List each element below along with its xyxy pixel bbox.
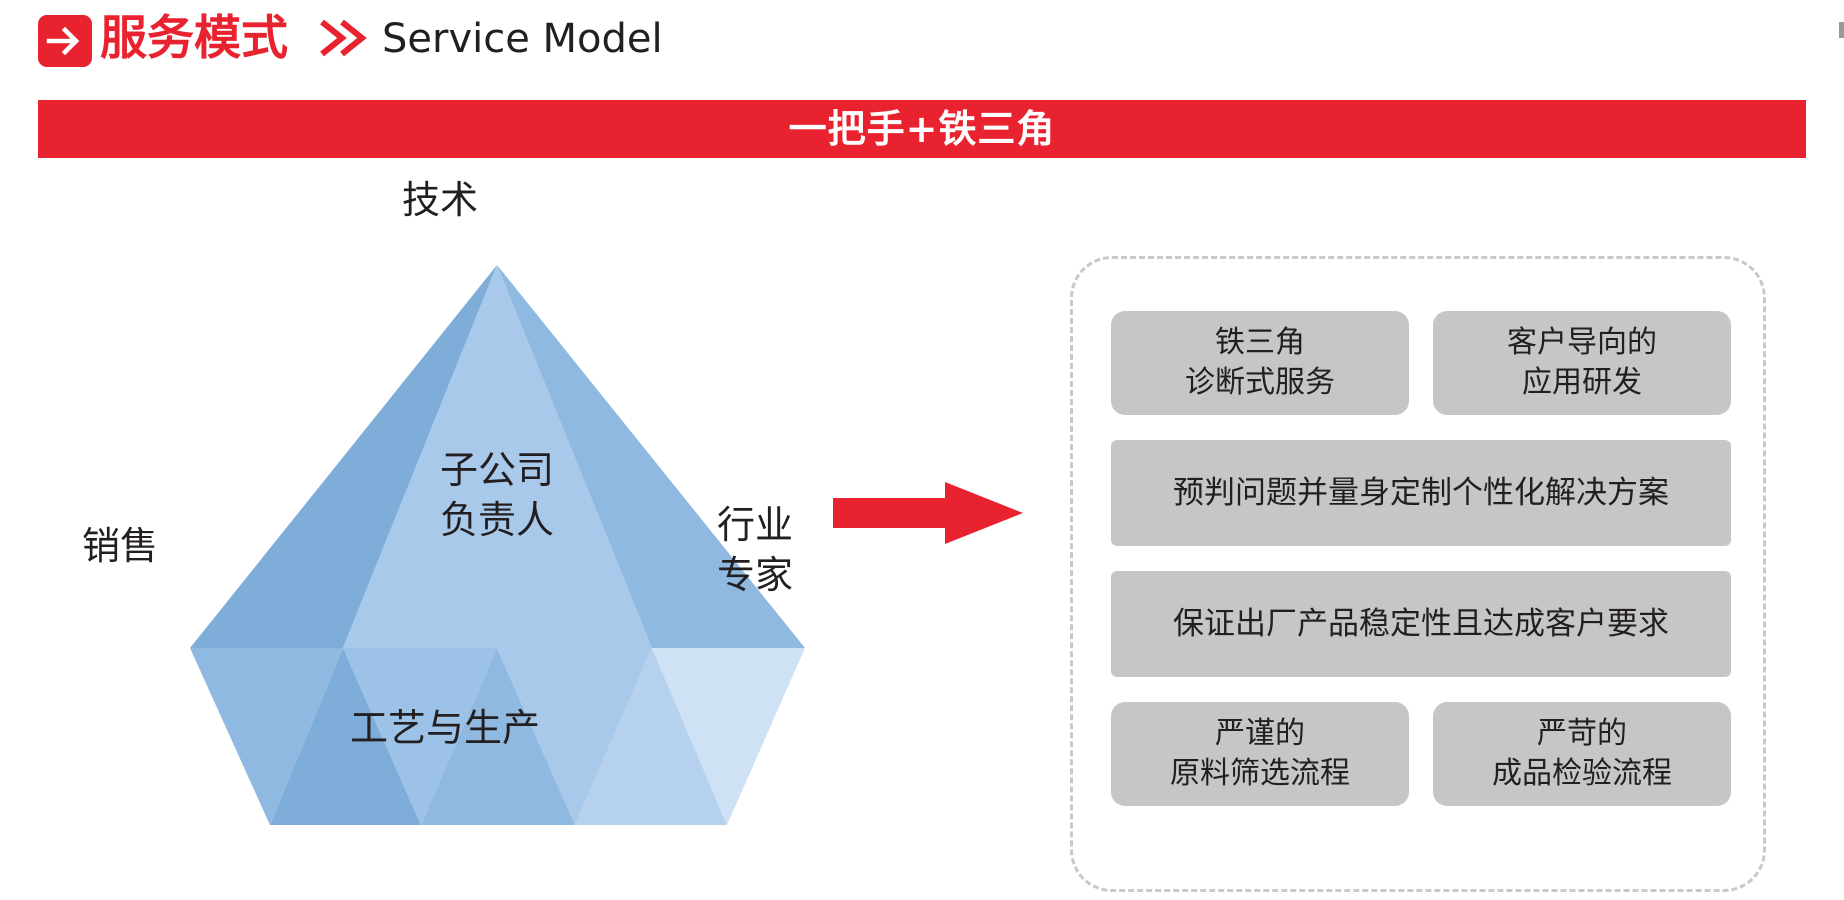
- capability-chip[interactable]: 客户导向的 应用研发: [1433, 311, 1731, 415]
- slide-canvas: 服务模式 Service Model 一把手+铁三角 技: [0, 0, 1844, 900]
- section-banner: 一把手+铁三角: [38, 100, 1806, 158]
- capability-chip-wide[interactable]: 保证出厂产品稳定性且达成客户要求: [1111, 571, 1731, 677]
- capabilities-list: 铁三角 诊断式服务 客户导向的 应用研发 预判问题并量身定制个性化解决方案 保证…: [1111, 311, 1731, 845]
- slide-header: 服务模式 Service Model: [0, 0, 1844, 88]
- diamond-center-label: 子公司 负责人: [337, 445, 657, 545]
- capability-chip-wide[interactable]: 预判问题并量身定制个性化解决方案: [1111, 440, 1731, 546]
- diamond-label-left: 销售: [60, 523, 180, 569]
- scrollbar-thumb[interactable]: [1839, 22, 1844, 38]
- red-right-arrow-icon: [833, 482, 1023, 544]
- header-title-en: Service Model: [382, 13, 663, 65]
- diamond-label-top: 技术: [380, 177, 500, 223]
- arrow-right-icon: [38, 15, 92, 67]
- diamond-label-right: 行业 专家: [700, 500, 810, 600]
- banner-title: 一把手+铁三角: [789, 100, 1056, 158]
- header-title-cn: 服务模式: [100, 8, 288, 70]
- capability-chip[interactable]: 铁三角 诊断式服务: [1111, 311, 1409, 415]
- capability-chip[interactable]: 严苛的 成品检验流程: [1433, 702, 1731, 806]
- diamond-label-bottom: 工艺与生产: [265, 705, 625, 751]
- double-chevron-right-icon: [316, 12, 370, 64]
- capabilities-panel: 铁三角 诊断式服务 客户导向的 应用研发 预判问题并量身定制个性化解决方案 保证…: [1070, 256, 1766, 892]
- capability-chip[interactable]: 严谨的 原料筛选流程: [1111, 702, 1409, 806]
- capability-row-1: 铁三角 诊断式服务 客户导向的 应用研发: [1111, 311, 1731, 415]
- capability-row-4: 严谨的 原料筛选流程 严苛的 成品检验流程: [1111, 702, 1731, 806]
